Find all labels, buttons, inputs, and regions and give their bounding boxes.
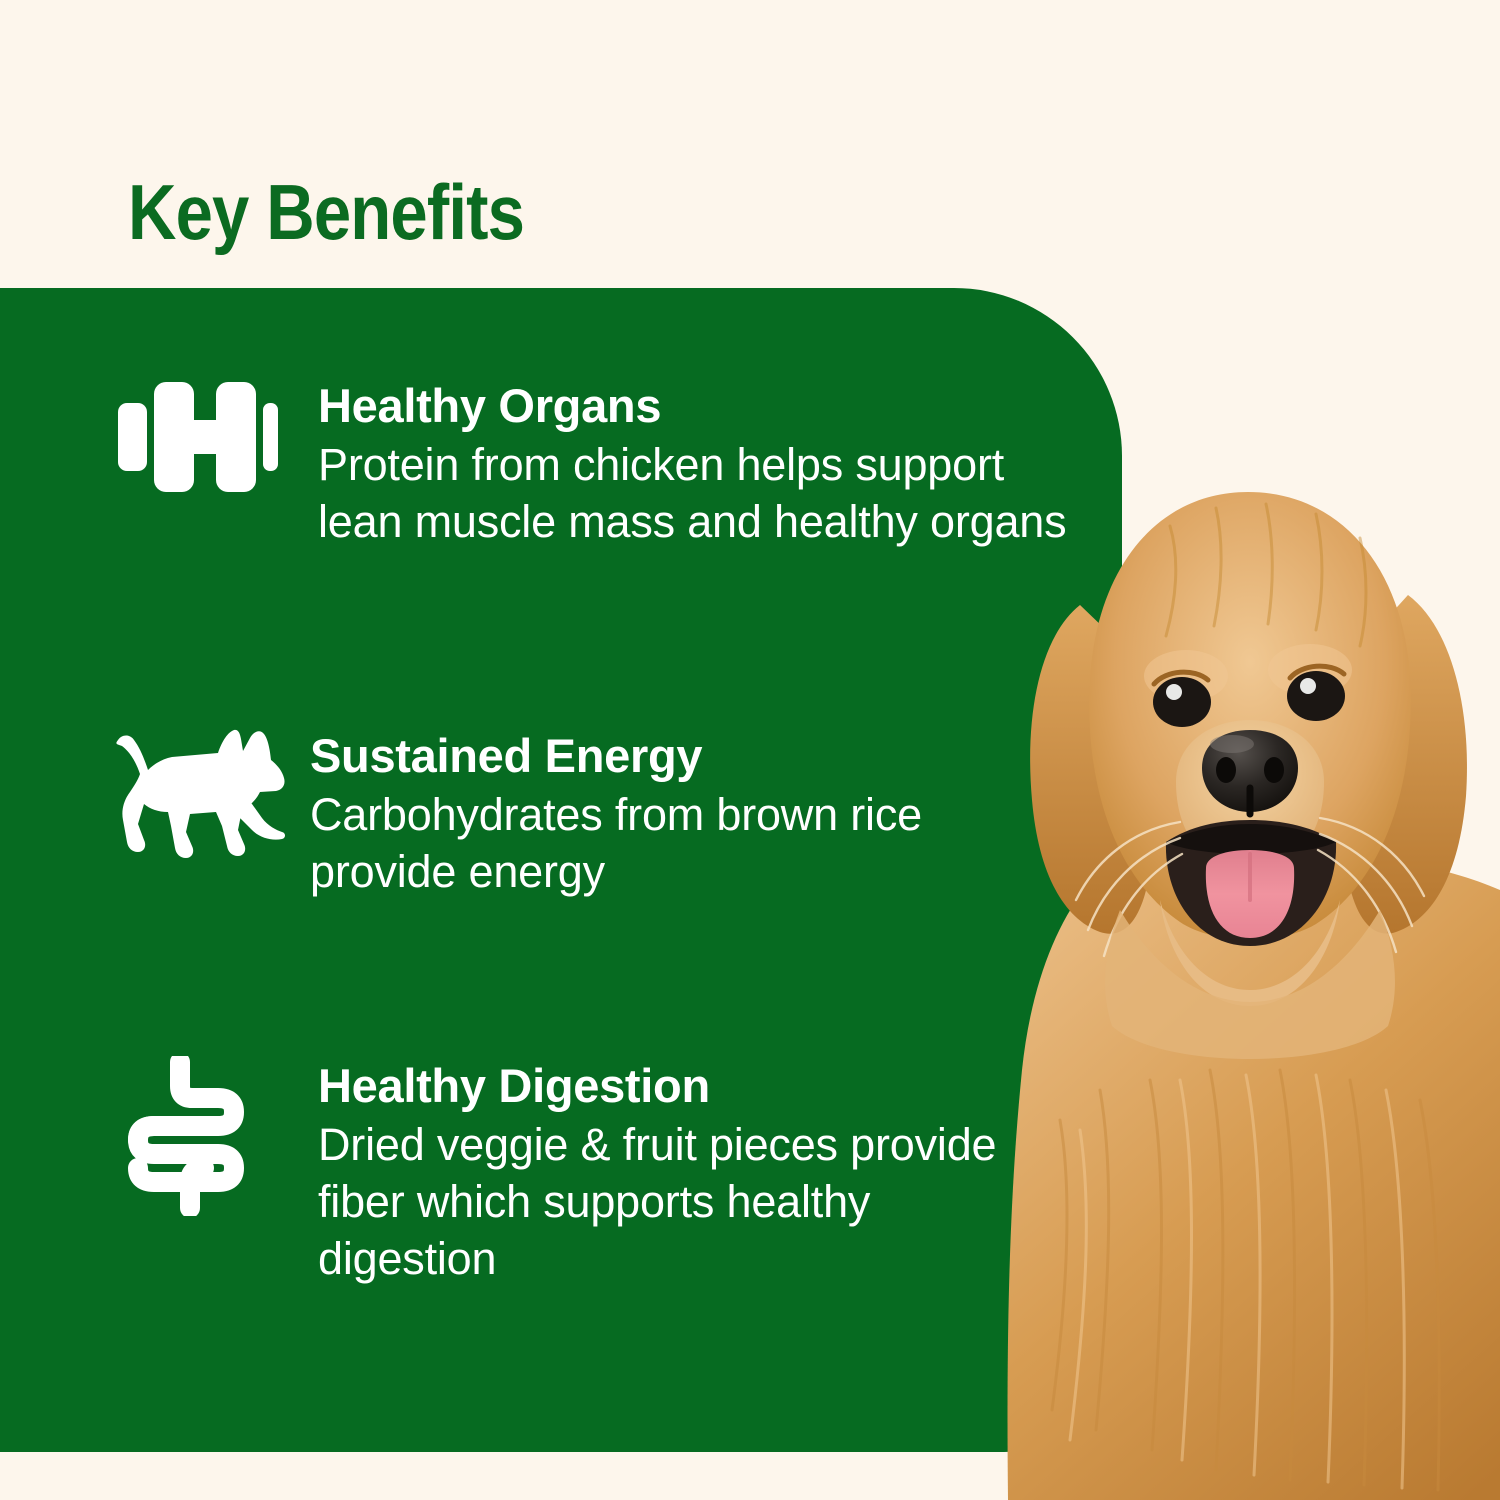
- dumbbell-icon: [118, 376, 318, 498]
- golden-retriever-photo: [980, 430, 1500, 1500]
- benefits-panel: Healthy Organs Protein from chicken help…: [0, 288, 1122, 1452]
- key-benefits-infographic: Key Benefits Hea: [0, 0, 1500, 1500]
- benefit-body: Protein from chicken helps support lean …: [318, 436, 1078, 550]
- benefit-text: Healthy Digestion Dried veggie & fruit p…: [318, 1056, 1018, 1287]
- page-title: Key Benefits: [128, 170, 524, 254]
- benefit-item-healthy-organs: Healthy Organs Protein from chicken help…: [118, 376, 1078, 550]
- benefit-body: Dried veggie & fruit pieces provide fibe…: [318, 1116, 1018, 1287]
- benefit-item-sustained-energy: Sustained Energy Carbohydrates from brow…: [110, 726, 940, 900]
- benefit-body: Carbohydrates from brown rice provide en…: [310, 786, 940, 900]
- benefit-text: Healthy Organs Protein from chicken help…: [318, 376, 1078, 550]
- dog-walking-icon: [110, 726, 310, 862]
- benefit-item-healthy-digestion: Healthy Digestion Dried veggie & fruit p…: [118, 1056, 1018, 1287]
- benefit-text: Sustained Energy Carbohydrates from brow…: [310, 726, 940, 900]
- benefit-heading: Healthy Organs: [318, 378, 1078, 434]
- benefit-heading: Healthy Digestion: [318, 1058, 1018, 1114]
- intestine-icon: [118, 1056, 318, 1216]
- benefit-heading: Sustained Energy: [310, 728, 940, 784]
- benefits-list: Healthy Organs Protein from chicken help…: [0, 288, 1080, 1452]
